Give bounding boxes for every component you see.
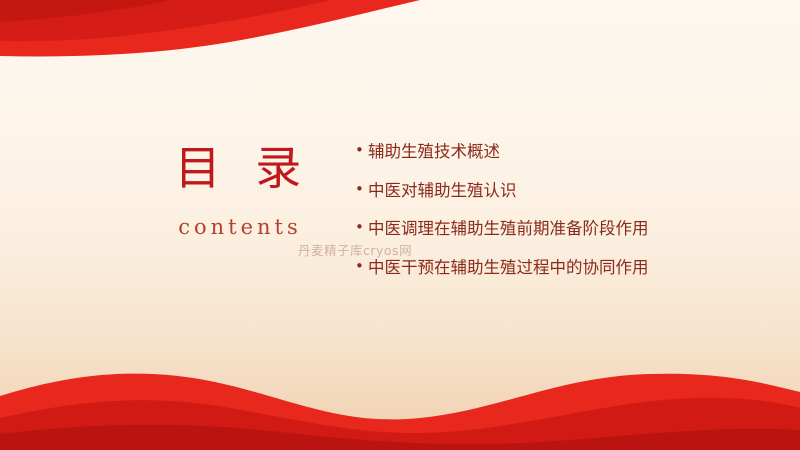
list-item-label: 中医干预在辅助生殖过程中的协同作用 xyxy=(368,254,730,282)
page-title-cn: 目 录 xyxy=(128,142,348,195)
title-block: 目 录 contents xyxy=(128,142,348,239)
bullet-dot-icon: • xyxy=(355,138,368,163)
bullet-dot-icon: • xyxy=(355,177,368,202)
contents-list: • 辅助生殖技术概述 • 中医对辅助生殖认识 • 中医调理在辅助生殖前期准备阶段… xyxy=(355,138,730,293)
list-item-label: 中医调理在辅助生殖前期准备阶段作用 xyxy=(368,215,730,243)
slide-content: 目 录 contents • 辅助生殖技术概述 • 中医对辅助生殖认识 • 中医… xyxy=(0,0,800,450)
watermark-text: 丹麦精子库cryos网 xyxy=(298,240,412,259)
slide-canvas: 目 录 contents • 辅助生殖技术概述 • 中医对辅助生殖认识 • 中医… xyxy=(0,0,800,450)
list-item[interactable]: • 中医对辅助生殖认识 xyxy=(355,177,730,205)
list-item[interactable]: • 辅助生殖技术概述 xyxy=(355,138,730,166)
list-item[interactable]: • 中医调理在辅助生殖前期准备阶段作用 xyxy=(355,215,730,243)
bullet-dot-icon: • xyxy=(355,215,368,240)
list-item-label: 辅助生殖技术概述 xyxy=(368,138,730,166)
page-title-en: contents xyxy=(128,215,348,239)
list-item-label: 中医对辅助生殖认识 xyxy=(368,177,730,205)
